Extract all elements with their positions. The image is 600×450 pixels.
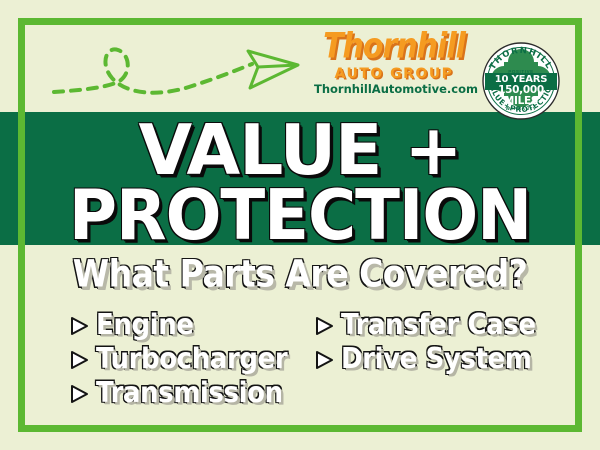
warranty-seal-badge: THORNHILL VALUE+PROTECTION POSITIVE 10 Y… — [481, 41, 561, 121]
subheading-question: What Parts Are Covered? — [0, 252, 600, 296]
advertisement-banner: Thornhill AUTO GROUP ThornhillAutomotive… — [0, 0, 600, 450]
seal-center-text: POSITIVE 10 YEARS 150,000 MILES WARRANTY — [486, 70, 556, 112]
list-item-label: Turbocharger — [96, 345, 287, 374]
covered-parts-left-column: Engine Turbocharger Transmission — [68, 308, 287, 410]
list-item-label: Drive System — [341, 345, 531, 374]
headline-line-1: VALUE + — [0, 118, 600, 182]
list-item-label: Engine — [96, 311, 194, 340]
thornhill-logo: Thornhill AUTO GROUP ThornhillAutomotive… — [314, 30, 474, 96]
paper-plane-arrow-icon — [248, 51, 298, 88]
triangle-bullet-icon — [68, 349, 90, 371]
covered-parts-right-column: Transfer Case Drive System — [313, 308, 536, 376]
list-item: Transfer Case — [313, 308, 536, 342]
list-item: Transmission — [68, 376, 287, 410]
triangle-bullet-icon — [68, 383, 90, 405]
covered-parts-list: Engine Turbocharger Transmission Tra — [0, 308, 600, 418]
logo-subtitle: AUTO GROUP — [314, 67, 474, 81]
headline: VALUE + PROTECTION — [0, 112, 600, 240]
logo-website-url: ThornhillAutomotive.com — [314, 84, 474, 96]
list-item: Engine — [68, 308, 287, 342]
triangle-bullet-icon — [68, 315, 90, 337]
list-item-label: Transmission — [96, 379, 283, 408]
dashed-loop-path-with-arrow-icon — [52, 34, 302, 106]
logo-wordmark: Thornhill — [314, 30, 474, 65]
headline-line-2: PROTECTION — [0, 183, 600, 247]
list-item: Drive System — [313, 342, 536, 376]
header-row: Thornhill AUTO GROUP ThornhillAutomotive… — [0, 18, 600, 112]
list-item-label: Transfer Case — [341, 311, 536, 340]
list-item: Turbocharger — [68, 342, 287, 376]
seal-term-miles: 150,000 MILES — [486, 85, 556, 107]
triangle-bullet-icon — [313, 315, 335, 337]
triangle-bullet-icon — [313, 349, 335, 371]
